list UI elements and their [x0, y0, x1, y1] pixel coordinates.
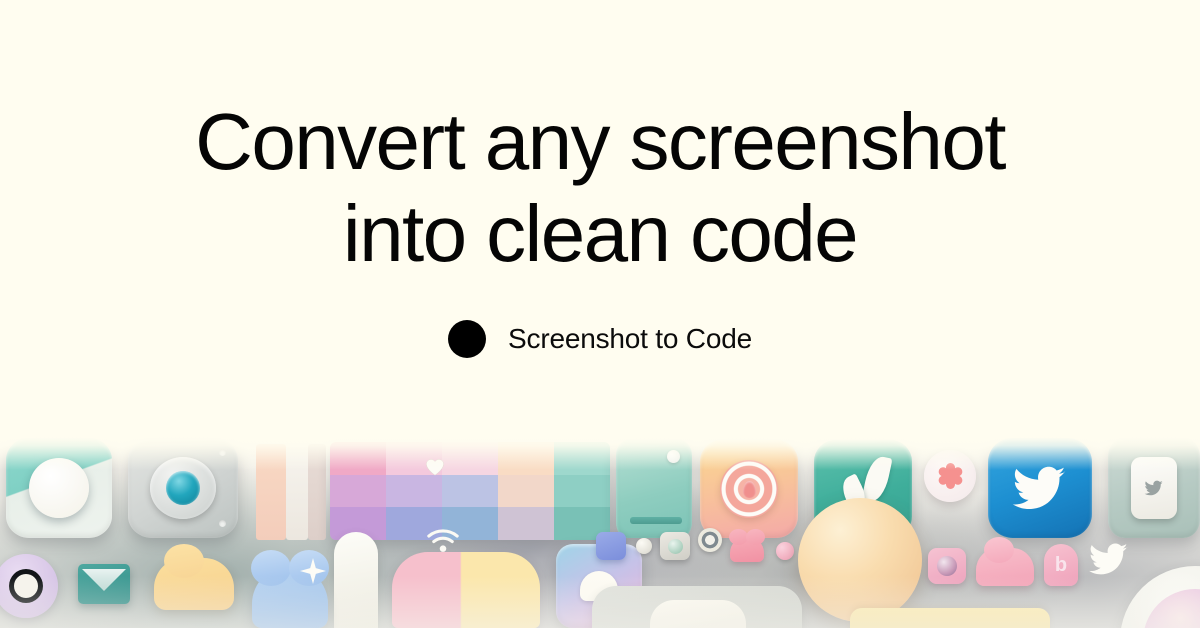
small-pink-heart-icon: [730, 536, 764, 562]
brand-name: Screenshot to Code: [508, 323, 752, 355]
headline-line-2: into clean code: [0, 188, 1200, 280]
mint-line: [630, 517, 682, 524]
location-pin-icon: [743, 481, 756, 498]
black-circle-logo-icon: [448, 320, 486, 358]
hero-text-block: Convert any screenshot into clean code S…: [0, 96, 1200, 358]
bottom-haze: [0, 576, 1200, 628]
brand-row: Screenshot to Code: [0, 320, 1200, 358]
grey-bird-icon: [1143, 479, 1165, 497]
small-lens-square-icon: [660, 532, 690, 560]
headline-line-1: Convert any screenshot: [0, 96, 1200, 188]
strip-top-fade: [0, 436, 1200, 470]
wifi-icon: [426, 528, 460, 554]
decorative-icon-strip: b: [0, 436, 1200, 628]
small-grey-dot: [636, 538, 652, 554]
small-ring-icon: [698, 528, 722, 552]
camera-dot-bottom: [219, 520, 226, 527]
og-card: Convert any screenshot into clean code S…: [0, 0, 1200, 628]
pink-bead: [776, 542, 794, 560]
camera-lens-icon: [166, 471, 200, 505]
white-bird-icon: [1086, 540, 1132, 578]
small-blue-square-icon: [596, 532, 626, 560]
